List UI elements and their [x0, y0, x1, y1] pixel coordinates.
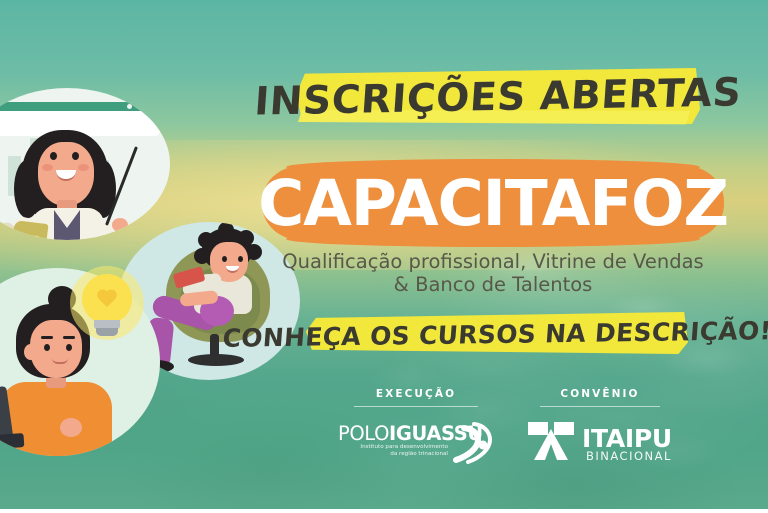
- execution-divider: [354, 406, 478, 407]
- agreement-column: CONVÊNIO ITAIPU BINACIONAL: [524, 388, 676, 466]
- page-title: CAPACITAFOZ: [262, 166, 724, 240]
- cta-banner: CONHEÇA OS CURSOS NA DESCRIÇÃO!: [306, 310, 688, 358]
- main-title-banner: CAPACITAFOZ: [262, 166, 724, 240]
- subtitle-line-1: Qualificação profissional, Vitrine de Ve…: [262, 250, 724, 273]
- itaipu-logo: ITAIPU BINACIONAL: [524, 420, 676, 466]
- itaipu-dam-mark-icon: [526, 420, 582, 462]
- headline-banner: INSCRIÇÕES ABERTAS: [296, 64, 700, 130]
- polo-tagline-line-2: da região trinacional: [340, 451, 448, 458]
- footer-logos: EXECUÇÃO POLOIGUASSU Instituto para dese…: [336, 388, 676, 480]
- bottom-white-strip: [0, 509, 768, 513]
- teacher-figure: [16, 126, 136, 240]
- open-book-icon: [0, 222, 48, 240]
- agreement-label: CONVÊNIO: [524, 388, 676, 400]
- polo-tagline-line-1: Instituto para desenvolvimento: [340, 444, 448, 451]
- cta-text: CONHEÇA OS CURSOS NA DESCRIÇÃO!: [304, 307, 690, 360]
- subtitle-line-2: & Banco de Talentos: [262, 273, 724, 296]
- itaipu-subtitle: BINACIONAL: [586, 449, 672, 463]
- polo-word-light: POLO: [338, 422, 389, 445]
- lightbulb-idea-icon: [76, 272, 138, 334]
- polo-iguassu-logo: POLOIGUASSU Instituto para desenvolvimen…: [336, 422, 496, 466]
- polo-iguassu-swoosh-icon: [452, 420, 494, 464]
- subtitle: Qualificação profissional, Vitrine de Ve…: [262, 250, 724, 296]
- agreement-divider: [540, 406, 660, 407]
- execution-label: EXECUÇÃO: [336, 388, 496, 400]
- execution-column: EXECUÇÃO POLOIGUASSU Instituto para dese…: [336, 388, 496, 466]
- browser-dots-icon: [127, 104, 152, 109]
- polo-iguassu-tagline: Instituto para desenvolvimento da região…: [340, 444, 448, 459]
- promotional-banner: INSCRIÇÕES ABERTAS CAPACITAFOZ Qualifica…: [0, 0, 768, 513]
- headline-text: INSCRIÇÕES ABERTAS: [293, 60, 702, 134]
